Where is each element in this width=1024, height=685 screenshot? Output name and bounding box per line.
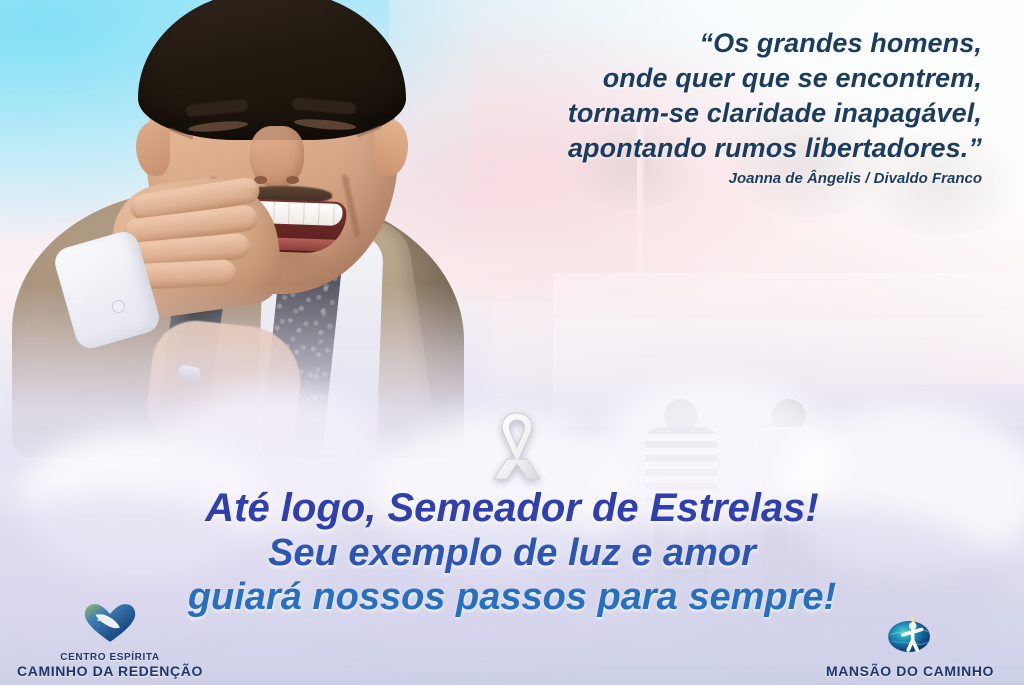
quote-line-4: apontando rumos libertadores.” bbox=[422, 131, 982, 166]
logo-mansao-do-caminho: MANSÃO DO CAMINHO bbox=[810, 611, 1010, 679]
quote-line-1: “Os grandes homens, bbox=[422, 26, 982, 61]
logo-left-line-2: CAMINHO DA REDENÇÃO bbox=[10, 663, 210, 679]
portrait-photo bbox=[18, 0, 468, 464]
quote-attribution: Joanna de Ângelis / Divaldo Franco bbox=[422, 170, 982, 187]
logo-left-line-1: CENTRO ESPÍRITA bbox=[10, 652, 210, 663]
quote-line-3: tornam-se claridade inapagável, bbox=[422, 96, 982, 131]
memorial-poster: “Os grandes homens, onde quer que se enc… bbox=[0, 0, 1024, 685]
heart-hands-icon bbox=[10, 602, 210, 649]
message-line-1: Até logo, Semeador de Estrelas! bbox=[0, 487, 1024, 530]
quote-line-2: onde quer que se encontrem, bbox=[422, 61, 982, 96]
quote-text: “Os grandes homens, onde quer que se enc… bbox=[422, 26, 982, 166]
white-ribbon-icon bbox=[489, 409, 545, 483]
main-message: Até logo, Semeador de Estrelas! Seu exem… bbox=[0, 487, 1024, 618]
globe-figure-flame-icon bbox=[810, 611, 1010, 660]
logo-centro-espirita: CENTRO ESPÍRITA CAMINHO DA REDENÇÃO bbox=[10, 602, 210, 679]
message-line-2: Seu exemplo de luz e amor bbox=[0, 533, 1024, 574]
logo-right-line-1: MANSÃO DO CAMINHO bbox=[810, 663, 1010, 679]
